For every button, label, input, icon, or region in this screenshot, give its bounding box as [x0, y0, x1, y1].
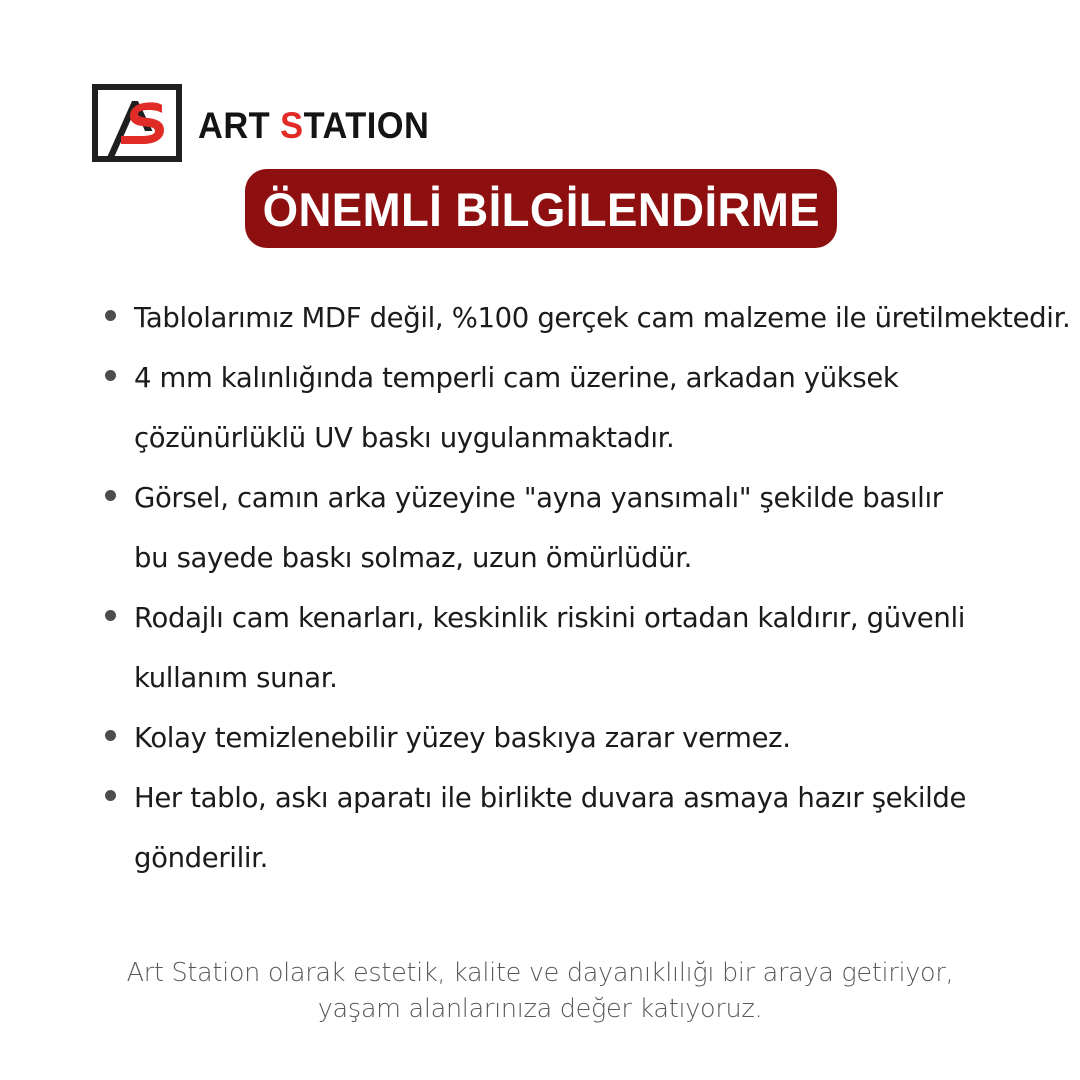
footer-slogan: Art Station olarak estetik, kalite ve da…	[0, 955, 1080, 1027]
bullet-dot-icon	[105, 490, 116, 501]
information-bullet-list: Tablolarımız MDF değil, %100 gerçek cam …	[100, 288, 1040, 888]
footer-slogan-line-1: Art Station olarak estetik, kalite ve da…	[0, 955, 1080, 991]
list-item: 4 mm kalınlığında temperli cam üzerine, …	[100, 348, 1040, 468]
list-item: Her tablo, askı aparatı ile birlikte duv…	[100, 768, 1040, 888]
bullet-dot-icon	[105, 310, 116, 321]
list-item-line: çözünürlüklü UV baskı uygulanmaktadır.	[134, 408, 1040, 468]
brand-name: ART STATION	[198, 107, 429, 144]
list-item-line: kullanım sunar.	[134, 648, 1040, 708]
list-item: Kolay temizlenebilir yüzey baskıya zarar…	[100, 708, 1040, 768]
footer-slogan-line-2: yaşam alanlarınıza değer katıyoruz.	[0, 991, 1080, 1027]
list-item: Rodajlı cam kenarları, keskinlik riskini…	[100, 588, 1040, 708]
brand-lockup: ART STATION	[92, 84, 447, 162]
list-item-line: 4 mm kalınlığında temperli cam üzerine, …	[134, 348, 1040, 408]
bullet-dot-icon	[105, 730, 116, 741]
bullet-dot-icon	[105, 610, 116, 621]
list-item-line: Görsel, camın arka yüzeyine "ayna yansım…	[134, 468, 1040, 528]
headline-banner: ÖNEMLİ BİLGİLENDİRME	[245, 169, 837, 248]
list-item-line: Tablolarımız MDF değil, %100 gerçek cam …	[134, 288, 1040, 348]
headline-banner-title: ÖNEMLİ BİLGİLENDİRME	[262, 186, 819, 233]
list-item-line: gönderilir.	[134, 828, 1040, 888]
bullet-dot-icon	[105, 370, 116, 381]
list-item: Görsel, camın arka yüzeyine "ayna yansım…	[100, 468, 1040, 588]
brand-name-part-2: TATION	[304, 105, 430, 146]
brand-name-part-1: ART	[198, 105, 280, 146]
bullet-dot-icon	[105, 790, 116, 801]
informational-poster: ART STATION ÖNEMLİ BİLGİLENDİRME Tablola…	[0, 0, 1080, 1080]
list-item-line: Rodajlı cam kenarları, keskinlik riskini…	[134, 588, 1040, 648]
brand-name-accent-letter: S	[280, 105, 303, 146]
list-item: Tablolarımız MDF değil, %100 gerçek cam …	[100, 288, 1040, 348]
art-station-monogram-icon	[92, 84, 182, 162]
list-item-line: Kolay temizlenebilir yüzey baskıya zarar…	[134, 708, 1040, 768]
list-item-line: bu sayede baskı solmaz, uzun ömürlüdür.	[134, 528, 1040, 588]
list-item-line: Her tablo, askı aparatı ile birlikte duv…	[134, 768, 1040, 828]
